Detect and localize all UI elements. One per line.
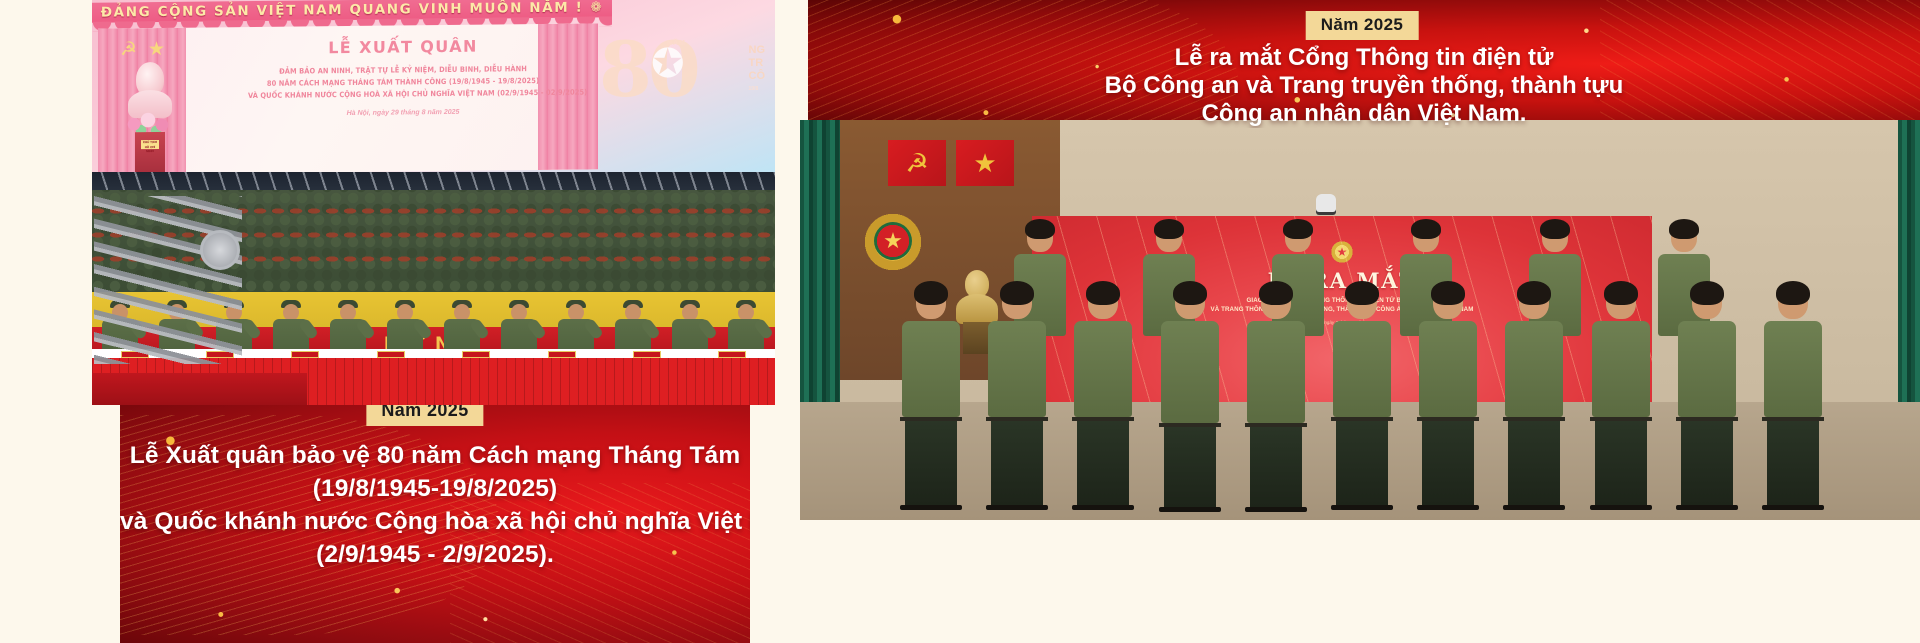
officer-portrait bbox=[1762, 285, 1824, 512]
bust-nameplate: CHỦ TỊCH HỒ CHÍ MINH bbox=[141, 140, 159, 149]
officer-uniform bbox=[1161, 321, 1219, 423]
table-nameplate bbox=[462, 351, 490, 358]
officer-shoes bbox=[1676, 505, 1738, 510]
officer-shoes bbox=[1331, 505, 1393, 510]
ceiling-camera bbox=[1316, 194, 1336, 212]
officer-hair bbox=[1259, 281, 1293, 305]
officer-shoes bbox=[1503, 505, 1565, 510]
officer-trousers bbox=[1508, 421, 1560, 505]
officer-portrait bbox=[1417, 285, 1479, 512]
officer-portrait bbox=[1590, 285, 1652, 512]
led-date-line: Hà Nội, ngày 29 tháng 8 năm 2025 bbox=[248, 108, 558, 118]
national-flag-panel: ★ bbox=[956, 140, 1014, 186]
red-carpet bbox=[92, 373, 307, 405]
right-caption-line-1: Lễ ra mắt Cổng Thông tin điện tử bbox=[808, 44, 1920, 72]
officer-portrait bbox=[1072, 285, 1134, 512]
officer-portrait bbox=[900, 285, 962, 512]
right-caption-block: Năm 2025 Lễ ra mắt Cổng Thông tin điện t… bbox=[808, 0, 1920, 128]
officer-trousers bbox=[1250, 427, 1302, 507]
left-year-badge: Năm 2025 bbox=[366, 405, 483, 426]
left-caption-line-4: (2/9/1945 - 2/9/2025). bbox=[120, 538, 750, 571]
officer-shoes bbox=[1072, 505, 1134, 510]
officer-trousers bbox=[1681, 421, 1733, 505]
led-title: LỄ XUẤT QUÂN bbox=[248, 36, 558, 58]
table-nameplate bbox=[291, 351, 319, 358]
anniversary-side-small: 19/8 bbox=[749, 83, 766, 96]
officer-uniform bbox=[1592, 321, 1650, 417]
officer-trousers bbox=[1336, 421, 1388, 505]
table-nameplate bbox=[548, 351, 576, 358]
officer-hair bbox=[1669, 219, 1699, 239]
officer-uniform bbox=[902, 321, 960, 417]
right-caption-text: Lễ ra mắt Cổng Thông tin điện tử Bộ Công… bbox=[808, 44, 1920, 128]
officer-trousers bbox=[1164, 427, 1216, 507]
officer-hair bbox=[1431, 281, 1465, 305]
officer-shoes bbox=[986, 505, 1048, 510]
officer-uniform bbox=[1247, 321, 1305, 423]
officer-uniform bbox=[1419, 321, 1477, 417]
left-caption-block: Năm 2025 Lễ Xuất quân bảo vệ 80 năm Cách… bbox=[120, 405, 750, 643]
officer-hair bbox=[1776, 281, 1810, 305]
officer-portrait bbox=[1676, 285, 1738, 512]
officer-shoes bbox=[1590, 505, 1652, 510]
officer-portrait bbox=[1159, 285, 1221, 512]
officer-portrait bbox=[1331, 285, 1393, 512]
officer-hair bbox=[1540, 219, 1570, 239]
anniversary-nam-label: NĂM bbox=[667, 40, 686, 47]
party-flag-emblems: ☭ ★ bbox=[120, 38, 178, 61]
officer-hair bbox=[1173, 281, 1207, 305]
officer-hair bbox=[1345, 281, 1379, 305]
crowd-salute-photo: MỪNG bbox=[92, 172, 775, 405]
officer-hair bbox=[914, 281, 948, 305]
anniversary-80-logo: 80 ✪ NĂM NG TR CÔ 19/8 bbox=[599, 18, 767, 138]
officer-trousers bbox=[1767, 421, 1819, 505]
lotus-icon: ❁ bbox=[590, 0, 603, 16]
right-year-badge: Năm 2025 bbox=[1306, 11, 1419, 40]
anniversary-side-text: NG TR CÔ 19/8 bbox=[749, 44, 766, 96]
collage-canvas: ĐẢNG CỘNG SẢN VIỆT NAM QUANG VINH MUÔN N… bbox=[0, 0, 1920, 643]
led-subtitle-line-3: VÀ QUỐC KHÁNH NƯỚC CỘNG HOÀ XÃ HỘI CHỦ N… bbox=[248, 87, 558, 102]
officer-uniform bbox=[1678, 321, 1736, 417]
group-portrait-photo: ☭ ★ ★ ★ LỄ RA MẮT bbox=[800, 120, 1920, 520]
officer-trousers bbox=[905, 421, 957, 505]
officer-hair bbox=[1690, 281, 1724, 305]
officer-trousers bbox=[1422, 421, 1474, 505]
led-screen-text-block: LỄ XUẤT QUÂN ĐẢM BẢO AN NINH, TRẬT TỰ LỄ… bbox=[248, 36, 558, 118]
officer-hair bbox=[1000, 281, 1034, 305]
anniversary-star-icon: ✪ bbox=[651, 44, 685, 84]
gold-star-icon: ★ bbox=[973, 150, 996, 176]
hammer-sickle-icon: ☭ bbox=[120, 40, 137, 59]
officer-trousers bbox=[1077, 421, 1129, 505]
table-nameplate bbox=[377, 351, 405, 358]
right-caption-line-3: Công an nhân dân Việt Nam. bbox=[808, 100, 1920, 128]
officer-hair bbox=[1604, 281, 1638, 305]
left-panel: ĐẢNG CỘNG SẢN VIỆT NAM QUANG VINH MUÔN N… bbox=[92, 0, 775, 643]
officer-trousers bbox=[1595, 421, 1647, 505]
officer-shoes bbox=[1762, 505, 1824, 510]
officer-hair bbox=[1283, 219, 1313, 239]
officer-shoes bbox=[900, 505, 962, 510]
officer-uniform bbox=[1764, 321, 1822, 417]
officer-uniform bbox=[1074, 321, 1132, 417]
left-caption-line-3: và Quốc khánh nước Cộng hòa xã hội chủ n… bbox=[120, 505, 750, 538]
officer-hair bbox=[1086, 281, 1120, 305]
hammer-sickle-icon: ☭ bbox=[905, 150, 928, 176]
officer-hair bbox=[1411, 219, 1441, 239]
left-caption-text: Lễ Xuất quân bảo vệ 80 năm Cách mạng Thá… bbox=[120, 439, 750, 571]
officer-uniform bbox=[1333, 321, 1391, 417]
officers-front-row bbox=[892, 285, 1832, 512]
gold-star-icon: ★ bbox=[148, 39, 165, 58]
right-caption-line-2: Bộ Công an và Trang truyền thống, thành … bbox=[808, 72, 1920, 100]
bust-pedestal: CHỦ TỊCH HỒ CHÍ MINH bbox=[135, 132, 165, 172]
led-stage-photo: ĐẢNG CỘNG SẢN VIỆT NAM QUANG VINH MUÔN N… bbox=[92, 0, 775, 172]
officer-shoes bbox=[1159, 507, 1221, 512]
officer-shoes bbox=[1417, 505, 1479, 510]
table-nameplate bbox=[633, 351, 661, 358]
party-flag-panel: ☭ bbox=[888, 140, 946, 186]
left-caption-line-2: (19/8/1945-19/8/2025) bbox=[120, 472, 750, 505]
right-panel: Năm 2025 Lễ ra mắt Cổng Thông tin điện t… bbox=[800, 0, 1920, 643]
left-caption-line-1: Lễ Xuất quân bảo vệ 80 năm Cách mạng Thá… bbox=[120, 439, 750, 472]
officer-uniform bbox=[988, 321, 1046, 417]
officer-shoes bbox=[1245, 507, 1307, 512]
officer-trousers bbox=[991, 421, 1043, 505]
officer-hair bbox=[1154, 219, 1184, 239]
officer-uniform bbox=[1505, 321, 1563, 417]
metal-stairs bbox=[94, 196, 242, 364]
anniversary-side-line-2: TR bbox=[749, 57, 766, 70]
led-screen: ☭ ★ CHỦ TỊCH HỒ CHÍ MINH LỄ XUẤT QUÂN ĐẢ… bbox=[98, 23, 598, 172]
table-nameplate bbox=[718, 351, 746, 358]
officer-portrait bbox=[986, 285, 1048, 512]
group-of-officers bbox=[892, 232, 1832, 512]
officer-hair bbox=[1517, 281, 1551, 305]
officer-portrait bbox=[1245, 285, 1307, 512]
officer-portrait bbox=[1503, 285, 1565, 512]
officer-hair bbox=[1025, 219, 1055, 239]
anniversary-side-line-1: NG bbox=[749, 44, 766, 57]
anniversary-side-line-3: CÔ bbox=[749, 70, 766, 83]
ho-chi-minh-bust: CHỦ TỊCH HỒ CHÍ MINH bbox=[124, 62, 176, 172]
pedestal-fan bbox=[200, 230, 240, 270]
